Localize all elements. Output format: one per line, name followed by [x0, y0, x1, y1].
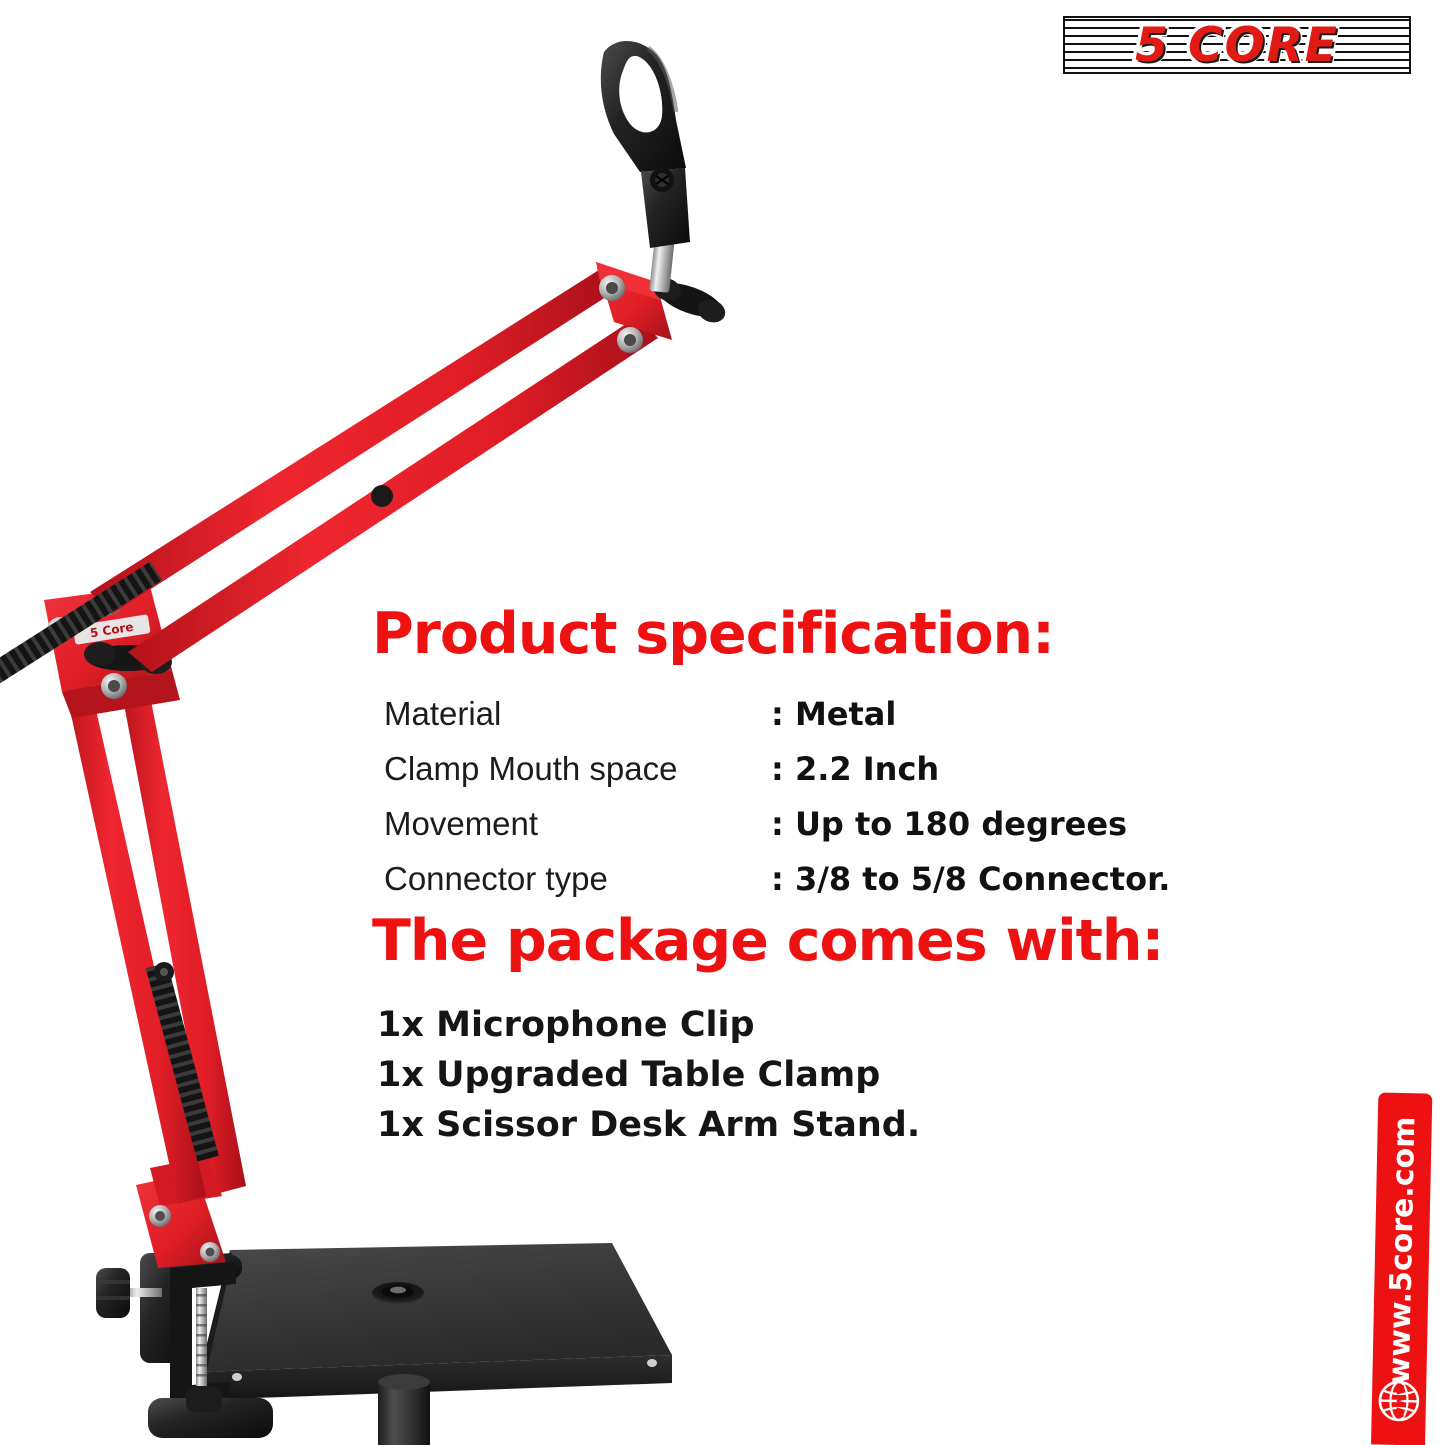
- lower-arm: [58, 648, 246, 1204]
- spec-row-material: Material : Metal: [384, 695, 1184, 750]
- website-url-text: www.5core.com: [1382, 1116, 1423, 1385]
- brand-logo: 5 CORE 5 CORE: [1063, 16, 1411, 74]
- specification-table: Material : Metal Clamp Mouth space : 2.2…: [384, 695, 1184, 915]
- package-item: 1x Microphone Clip: [377, 1000, 920, 1050]
- spec-value-connector-type: : 3/8 to 5/8 Connector.: [771, 860, 1170, 898]
- spec-row-movement: Movement : Up to 180 degrees: [384, 805, 1184, 860]
- globe-www-icon: www: [1376, 1379, 1421, 1424]
- spec-row-connector-type: Connector type : 3/8 to 5/8 Connector.: [384, 860, 1184, 915]
- spec-label-material: Material: [384, 695, 501, 733]
- package-contents-heading: The package comes with:: [372, 912, 1163, 972]
- logo-text: 5 CORE: [1063, 16, 1411, 74]
- package-item: 1x Upgraded Table Clamp: [377, 1050, 920, 1100]
- package-contents-list: 1x Microphone Clip 1x Upgraded Table Cla…: [377, 1000, 920, 1150]
- spec-label-clamp-mouth-space: Clamp Mouth space: [384, 750, 677, 788]
- spec-row-clamp-mouth-space: Clamp Mouth space : 2.2 Inch: [384, 750, 1184, 805]
- spec-value-movement: : Up to 180 degrees: [771, 805, 1127, 843]
- product-specification-heading: Product specification:: [372, 605, 1054, 665]
- product-infographic-page: 5 Core: [0, 0, 1445, 1445]
- svg-text:www: www: [1393, 1383, 1409, 1419]
- spec-label-movement: Movement: [384, 805, 538, 843]
- spec-value-material: : Metal: [771, 695, 896, 733]
- website-banner: www.5core.com www: [1371, 1093, 1432, 1445]
- microphone-clip: [601, 41, 690, 248]
- spec-label-connector-type: Connector type: [384, 860, 608, 898]
- spec-value-clamp-mouth-space: : 2.2 Inch: [771, 750, 939, 788]
- package-item: 1x Scissor Desk Arm Stand.: [377, 1100, 920, 1150]
